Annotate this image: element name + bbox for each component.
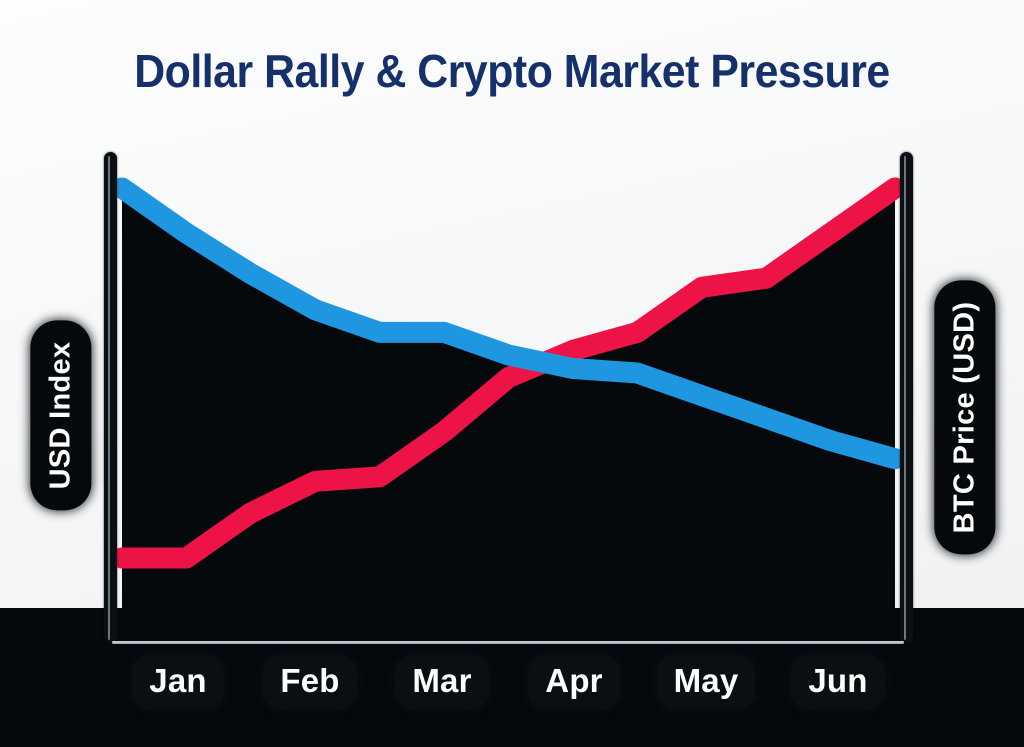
x-tick-label: Mar (399, 659, 484, 705)
x-tick-label: Jun (795, 659, 880, 705)
x-tick-label: May (661, 659, 752, 705)
right-axis-bar (900, 152, 913, 644)
chart-canvas (0, 0, 1024, 747)
left-axis-bar (104, 152, 117, 644)
x-axis-baseline (112, 641, 904, 644)
x-tick-apr: Apr (508, 659, 640, 705)
chart-screenshot: Dollar Rally & Crypto Market Pressure US… (0, 0, 1024, 747)
x-tick-may: May (640, 659, 772, 705)
right-axis-label: BTC Price (USD) (939, 286, 990, 550)
x-tick-jun: Jun (772, 659, 904, 705)
left-axis-label: USD Index (35, 326, 86, 506)
x-axis-tick-labels: JanFebMarAprMayJun (112, 655, 904, 709)
plot-area (0, 0, 1024, 747)
x-tick-label: Apr (532, 659, 615, 705)
x-tick-mar: Mar (376, 659, 508, 705)
x-tick-label: Jan (136, 659, 219, 705)
x-tick-label: Feb (267, 659, 352, 705)
x-tick-feb: Feb (244, 659, 376, 705)
x-tick-jan: Jan (112, 659, 244, 705)
